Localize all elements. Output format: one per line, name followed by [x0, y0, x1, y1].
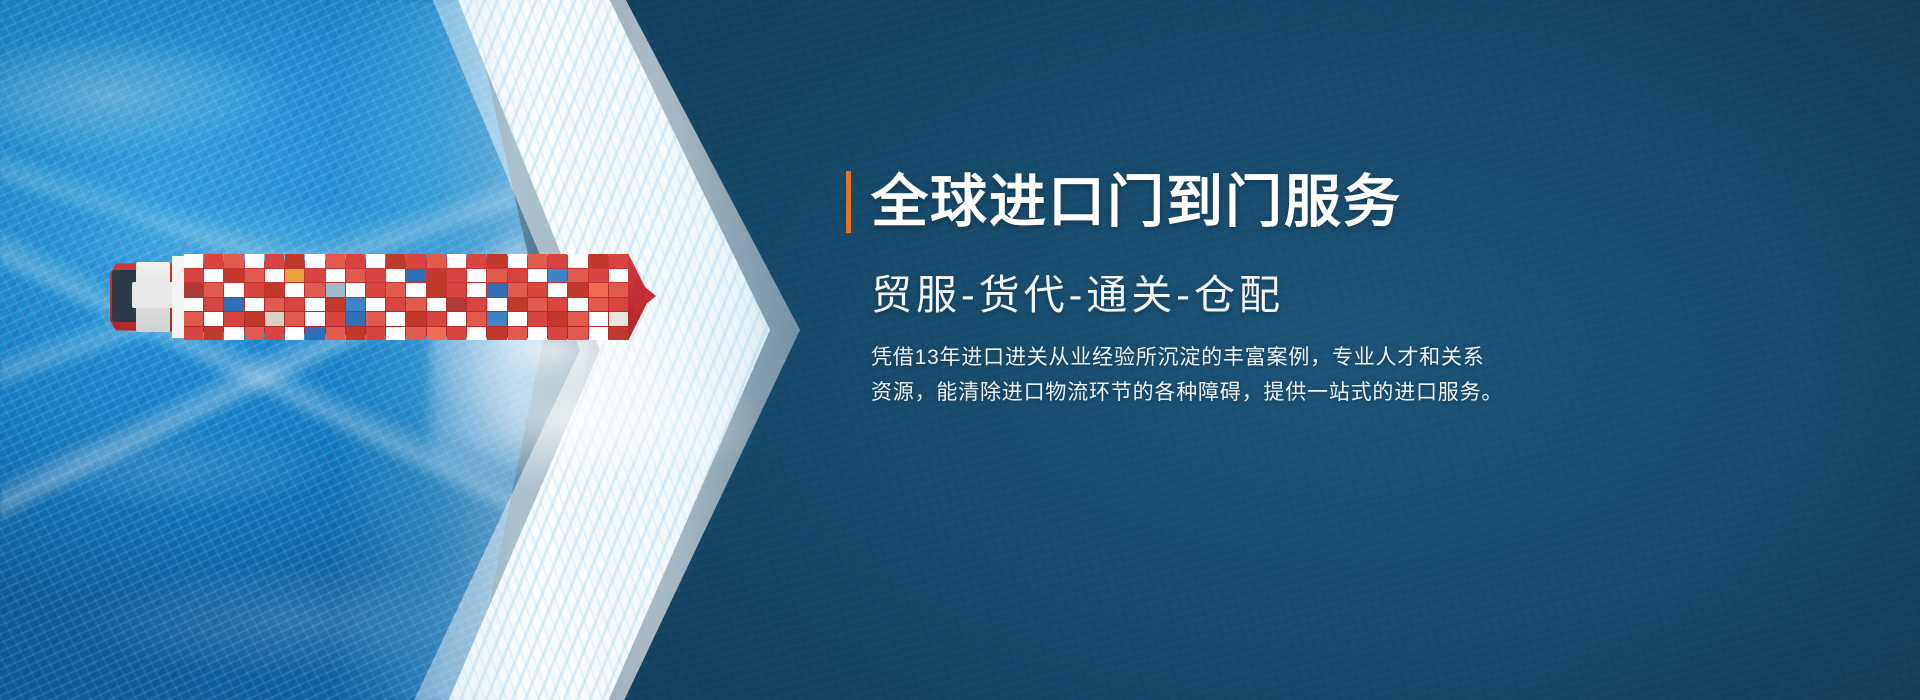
- page-title: 全球进口门到门服务: [871, 174, 1402, 231]
- banner-content: 全球进口门到门服务 贸服-货代-通关-仓配 凭借13年进口进关从业经验所沉淀的丰…: [0, 0, 1920, 700]
- headline-row: 全球进口门到门服务: [846, 171, 1402, 233]
- description-paragraph: 凭借13年进口进关从业经验所沉淀的丰富案例，专业人才和关系 资源，能清除进口物流…: [871, 341, 1571, 410]
- description-line-2: 资源，能清除进口物流环节的各种障碍，提供一站式的进口服务。: [871, 376, 1571, 411]
- subtitle: 贸服-货代-通关-仓配: [871, 272, 1284, 319]
- description-line-1: 凭借13年进口进关从业经验所沉淀的丰富案例，专业人才和关系: [871, 341, 1571, 376]
- hero-banner: 全球进口门到门服务 贸服-货代-通关-仓配 凭借13年进口进关从业经验所沉淀的丰…: [0, 0, 1920, 700]
- orange-accent-bar-icon: [846, 171, 851, 233]
